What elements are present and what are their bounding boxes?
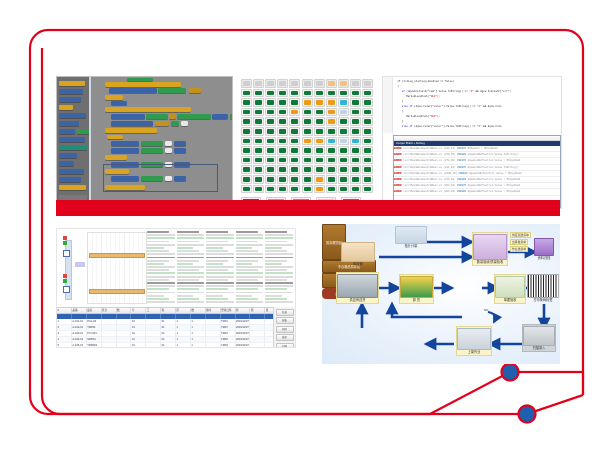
- status-cell-10-3[interactable]: [277, 175, 288, 184]
- status-cell-8-0[interactable]: [241, 156, 252, 165]
- data-grid[interactable]: #品番品名区分数号工程区数備考登録日時状態更新 1A-101-01PLG-04 …: [57, 307, 295, 347]
- status-cell-fill: [328, 158, 335, 163]
- status-cell-10-1[interactable]: [253, 175, 264, 184]
- status-cell-2-2[interactable]: [265, 98, 276, 107]
- status-cell-10-0[interactable]: [241, 175, 252, 184]
- status-cell-fill: [316, 187, 323, 192]
- status-cell-9-8[interactable]: [338, 165, 349, 174]
- status-cell-3-7[interactable]: [326, 108, 337, 117]
- status-cell-4-5[interactable]: [302, 117, 313, 126]
- schedule-text-row: [265, 269, 287, 271]
- palette-block-4[interactable]: [59, 113, 86, 118]
- status-cell-3-3[interactable]: [277, 108, 288, 117]
- status-cell-6-2[interactable]: [265, 137, 276, 146]
- status-cell-7-9[interactable]: [350, 146, 361, 155]
- status-cell-6-3[interactable]: [277, 137, 288, 146]
- script-block-10[interactable]: [105, 155, 127, 160]
- status-cell-0-3[interactable]: [277, 79, 288, 88]
- status-cell-8-6[interactable]: [314, 156, 325, 165]
- status-cell-2-4[interactable]: [289, 98, 300, 107]
- blocks-palette[interactable]: [57, 77, 91, 208]
- status-cell-0-7[interactable]: [326, 79, 337, 88]
- status-cell-8-3[interactable]: [277, 156, 288, 165]
- palette-block-9[interactable]: [59, 145, 87, 150]
- script-block-5b[interactable]: [155, 121, 169, 126]
- code-editor-screenshot[interactable]: if (txtLog_startLog.Enabled == false){if…: [382, 76, 562, 209]
- status-cell-9-9[interactable]: [350, 165, 361, 174]
- status-cell-7-4[interactable]: [289, 146, 300, 155]
- status-cell-8-8[interactable]: [338, 156, 349, 165]
- status-cell-7-1[interactable]: [253, 146, 264, 155]
- rail-chip-green2[interactable]: [63, 279, 67, 283]
- status-cell-4-9[interactable]: [350, 117, 361, 126]
- status-cell-1-8[interactable]: [338, 89, 349, 98]
- status-cell-7-8[interactable]: [338, 146, 349, 155]
- status-cell-2-6[interactable]: [314, 98, 325, 107]
- status-grid-screenshot[interactable]: [237, 76, 375, 207]
- log-field: RCSpp0c4 > MCCppDcmA: [468, 147, 498, 150]
- grid-header-10[interactable]: 備考: [206, 308, 221, 313]
- grid-header-12[interactable]: 状: [236, 308, 251, 313]
- side-button-3[interactable]: 検索: [276, 334, 294, 341]
- script-block-4c[interactable]: [169, 114, 176, 119]
- schedule-text-row: [265, 298, 287, 300]
- schedule-text-row: [236, 279, 258, 281]
- palette-block-2[interactable]: [59, 97, 81, 102]
- grid-header-6[interactable]: 工: [146, 308, 161, 313]
- status-cell-1-7[interactable]: [326, 89, 337, 98]
- side-button-2[interactable]: 削除: [276, 326, 294, 333]
- status-cell-8-4[interactable]: [289, 156, 300, 165]
- status-cell-2-1[interactable]: [253, 98, 264, 107]
- log-rows[interactable]: ERROR \src\MainWindow\FrmMain.cs (213,19…: [394, 146, 560, 196]
- status-cell-9-4[interactable]: [289, 165, 300, 174]
- flow-tag-workorder: 作业送货单: [510, 246, 528, 252]
- status-cell-fill: [316, 139, 323, 144]
- status-cell-fill: [291, 139, 298, 144]
- status-cell-1-9[interactable]: [350, 89, 361, 98]
- status-cell-11-0[interactable]: [241, 185, 252, 194]
- status-cell-1-5[interactable]: [302, 89, 313, 98]
- status-cell-7-7[interactable]: [326, 146, 337, 155]
- status-cell-3-4[interactable]: [289, 108, 300, 117]
- status-cell-11-3[interactable]: [277, 185, 288, 194]
- status-cell-fill: [328, 167, 335, 172]
- script-block-9b[interactable]: [141, 148, 163, 153]
- script-block-1c[interactable]: [189, 88, 201, 93]
- schedule-text-row: [236, 260, 258, 262]
- script-block-1[interactable]: [109, 88, 157, 93]
- blocks-canvas[interactable]: [91, 77, 232, 208]
- process-rail[interactable]: [59, 232, 85, 302]
- script-block-2[interactable]: [105, 95, 123, 100]
- block-selection-outline: [103, 164, 218, 192]
- status-cell-4-8[interactable]: [338, 117, 349, 126]
- scale-icon: [395, 226, 427, 244]
- grid-header-3[interactable]: 区分: [102, 308, 117, 313]
- status-cell-9-0[interactable]: [241, 165, 252, 174]
- gantt-bar-1[interactable]: [89, 289, 145, 294]
- status-cell-10-10[interactable]: [362, 175, 373, 184]
- script-block-9c[interactable]: [165, 148, 172, 153]
- side-button-4[interactable]: 印刷: [276, 343, 294, 349]
- code-token: (dgvw.Color["color"].Value.ToString() ==: [413, 105, 477, 108]
- log-field: (221,19): [444, 166, 458, 169]
- data-grid-header[interactable]: #品番品名区分数号工程区数備考登録日時状態更新: [57, 307, 295, 314]
- schedule-text-row: [206, 250, 228, 252]
- schedule-text-row: [265, 279, 287, 281]
- script-block-9[interactable]: [111, 148, 139, 153]
- status-cell-5-0[interactable]: [241, 127, 252, 136]
- table-row[interactable]: 5A-105-01TRM001 01A 010111TM032019/11/07…: [57, 343, 295, 348]
- code-line-9[interactable]: else if (dgvw.Color["color"].Value.ToStr…: [402, 125, 502, 128]
- status-cell-2-3[interactable]: [277, 98, 288, 107]
- block-tooltip[interactable]: [127, 78, 153, 81]
- status-cell-fill: [267, 81, 274, 86]
- status-cell-11-10[interactable]: [362, 185, 373, 194]
- status-cell-3-2[interactable]: [265, 108, 276, 117]
- status-cell-0-5[interactable]: [302, 79, 313, 88]
- status-cell-0-6[interactable]: [314, 79, 325, 88]
- script-block-9d[interactable]: [174, 148, 186, 153]
- schedule-text-row: [147, 237, 175, 239]
- status-cell-9-3[interactable]: [277, 165, 288, 174]
- status-cell-10-2[interactable]: [265, 175, 276, 184]
- code-line-8[interactable]: }: [402, 120, 404, 123]
- status-cell-4-6[interactable]: [314, 117, 325, 126]
- schedule-text-row: [206, 257, 234, 259]
- script-block-2b[interactable]: [111, 101, 127, 105]
- schedule-text-row: [177, 257, 205, 259]
- script-block-4f[interactable]: [230, 114, 233, 119]
- status-cell-0-9[interactable]: [350, 79, 361, 88]
- status-cell-fill: [255, 81, 262, 86]
- grid-header-1[interactable]: 品番: [72, 308, 87, 313]
- status-cell-4-0[interactable]: [241, 117, 252, 126]
- status-cell-4-3[interactable]: [277, 117, 288, 126]
- status-cell-4-1[interactable]: [253, 117, 264, 126]
- flow-node-supplier: 供应商: [342, 242, 374, 266]
- status-cell-11-9[interactable]: [350, 185, 361, 194]
- status-cell-3-9[interactable]: [350, 108, 361, 117]
- palette-block-5[interactable]: [59, 121, 79, 126]
- schedule-text-row: [206, 231, 228, 233]
- status-cell-fill: [364, 91, 371, 96]
- script-block-5c[interactable]: [171, 121, 179, 126]
- status-cell-2-9[interactable]: [350, 98, 361, 107]
- status-cell-3-5[interactable]: [302, 108, 313, 117]
- status-cell-1-3[interactable]: [277, 89, 288, 98]
- grid-cell: [146, 343, 161, 348]
- gantt-bar-0[interactable]: [89, 253, 145, 258]
- script-block-8d[interactable]: [174, 141, 186, 146]
- hand-scanner-icon: [523, 326, 555, 346]
- status-cell-fill: [304, 119, 311, 124]
- grid-header-5[interactable]: 号: [131, 308, 146, 313]
- flow-node-truck: 供应商送货: [336, 272, 379, 304]
- status-cell-1-0[interactable]: [241, 89, 252, 98]
- status-cell-2-5[interactable]: [302, 98, 313, 107]
- status-cell-9-7[interactable]: [326, 165, 337, 174]
- status-cell-fill: [328, 148, 335, 153]
- rail-flag[interactable]: [75, 262, 85, 267]
- status-cell-fill: [291, 177, 298, 182]
- palette-block-7[interactable]: [59, 129, 75, 134]
- code-line-5[interactable]: else if (dgvw.Color["color"].Value.ToStr…: [402, 105, 502, 108]
- schedule-text-row: [265, 237, 293, 239]
- status-cell-5-1[interactable]: [253, 127, 264, 136]
- palette-block-11[interactable]: [59, 161, 74, 166]
- status-cell-10-7[interactable]: [326, 175, 337, 184]
- status-cell-fill: [304, 177, 311, 182]
- script-block-6[interactable]: [105, 128, 157, 133]
- script-block-8[interactable]: [111, 141, 139, 146]
- schedule-text-row: [236, 288, 258, 290]
- status-cell-5-5[interactable]: [302, 127, 313, 136]
- schedule-text-row: [147, 244, 175, 246]
- rail-node-lower[interactable]: [63, 286, 70, 293]
- palette-block-6[interactable]: [77, 129, 89, 134]
- status-cell-fill: [255, 167, 262, 172]
- status-cell-9-5[interactable]: [302, 165, 313, 174]
- status-cell-5-2[interactable]: [265, 127, 276, 136]
- schedule-text-row: [236, 292, 264, 294]
- palette-block-3[interactable]: [59, 105, 73, 110]
- document-icon: [495, 276, 525, 298]
- status-cell-0-10[interactable]: [362, 79, 373, 88]
- schedule-text-row: [177, 282, 205, 284]
- script-block-3[interactable]: [105, 107, 191, 112]
- grid-header-11[interactable]: 登録日時: [221, 308, 236, 313]
- status-cell-fill: [328, 129, 335, 134]
- schedule-top-area[interactable]: [57, 229, 295, 305]
- status-cell-1-6[interactable]: [314, 89, 325, 98]
- status-cell-8-10[interactable]: [362, 156, 373, 165]
- status-cell-8-5[interactable]: [302, 156, 313, 165]
- schedule-text-row: [177, 234, 205, 236]
- status-cell-6-9[interactable]: [350, 137, 361, 146]
- script-block-1b[interactable]: [158, 88, 186, 93]
- status-cell-10-4[interactable]: [289, 175, 300, 184]
- schedule-text-row: [177, 247, 194, 249]
- status-cell-1-2[interactable]: [265, 89, 276, 98]
- status-cell-3-8[interactable]: [338, 108, 349, 117]
- status-cell-7-10[interactable]: [362, 146, 373, 155]
- build-output-panel[interactable]: Output Build + Debug ERROR \src\MainWind…: [393, 135, 561, 208]
- status-cell-6-1[interactable]: [253, 137, 264, 146]
- palette-block-1[interactable]: [59, 89, 83, 94]
- palette-block-14[interactable]: [59, 185, 86, 190]
- grid-cell: 1: [176, 331, 191, 336]
- status-cell-8-1[interactable]: [253, 156, 264, 165]
- status-cell-0-1[interactable]: [253, 79, 264, 88]
- grid-cell: 01: [161, 337, 176, 342]
- grid-header-9[interactable]: 数: [191, 308, 206, 313]
- grid-cell: 2019/11/07 09:15: [236, 325, 251, 330]
- status-cell-5-4[interactable]: [289, 127, 300, 136]
- status-cell-fill: [267, 139, 274, 144]
- status-cell-11-1[interactable]: [253, 185, 264, 194]
- status-cell-2-0[interactable]: [241, 98, 252, 107]
- status-cell-5-9[interactable]: [350, 127, 361, 136]
- side-button-1[interactable]: 編集: [276, 317, 294, 324]
- status-cell-fill: [364, 110, 371, 115]
- schedule-text-row: [265, 247, 282, 249]
- grid-cell: TMP01: [87, 325, 102, 330]
- status-cell-7-2[interactable]: [265, 146, 276, 155]
- script-block-4b[interactable]: [146, 114, 168, 119]
- palette-block-12[interactable]: [59, 169, 84, 174]
- status-cell-6-4[interactable]: [289, 137, 300, 146]
- schedule-sheet-screenshot[interactable]: #品番品名区分数号工程区数備考登録日時状態更新 1A-101-01PLG-04 …: [56, 228, 296, 348]
- status-cell-5-6[interactable]: [314, 127, 325, 136]
- grid-header-13[interactable]: 態: [250, 308, 265, 313]
- script-block-8c[interactable]: [165, 141, 172, 146]
- status-cell-2-7[interactable]: [326, 98, 337, 107]
- status-cell-fill: [243, 110, 250, 115]
- schedule-text-row: [236, 250, 258, 252]
- rail-node-upper[interactable]: [63, 250, 70, 257]
- log-field: \src\MainWindow\FrmMain.cs: [403, 166, 444, 169]
- status-cell-1-10[interactable]: [362, 89, 373, 98]
- palette-block-10[interactable]: [59, 153, 77, 158]
- grid-header-2[interactable]: 品名: [87, 308, 102, 313]
- status-cell-4-7[interactable]: [326, 117, 337, 126]
- data-grid-side-buttons[interactable]: 新規編集削除検索印刷閉じる: [273, 307, 295, 347]
- status-cell-11-2[interactable]: [265, 185, 276, 194]
- script-block-4d[interactable]: [177, 114, 211, 119]
- code-line-1[interactable]: {: [397, 85, 399, 88]
- status-cell-5-3[interactable]: [277, 127, 288, 136]
- status-cell-11-6[interactable]: [314, 185, 325, 194]
- status-cell-11-5[interactable]: [302, 185, 313, 194]
- status-cell-2-10[interactable]: [362, 98, 373, 107]
- script-block-5d[interactable]: [181, 121, 188, 126]
- rail-chip-red[interactable]: [63, 236, 67, 240]
- status-cell-8-7[interactable]: [326, 156, 337, 165]
- schedule-text-row: [147, 250, 169, 252]
- script-block-0[interactable]: [105, 82, 181, 87]
- grid-header-0[interactable]: #: [57, 308, 72, 313]
- status-cell-6-5[interactable]: [302, 137, 313, 146]
- script-block-8b[interactable]: [141, 141, 163, 146]
- status-cell-1-1[interactable]: [253, 89, 264, 98]
- status-cell-7-5[interactable]: [302, 146, 313, 155]
- status-cell-3-1[interactable]: [253, 108, 264, 117]
- code-line-6[interactable]: {: [402, 110, 404, 113]
- inspect-icon: [473, 234, 507, 260]
- status-cell-9-6[interactable]: [314, 165, 325, 174]
- status-cell-6-0[interactable]: [241, 137, 252, 146]
- status-cell-0-2[interactable]: [265, 79, 276, 88]
- status-cell-6-6[interactable]: [314, 137, 325, 146]
- status-cell-fill: [291, 81, 298, 86]
- rail-chip-green[interactable]: [63, 241, 67, 245]
- schedule-text-row: [265, 250, 287, 252]
- status-cell-7-0[interactable]: [241, 146, 252, 155]
- status-cell-2-8[interactable]: [338, 98, 349, 107]
- status-cell-fill: [243, 100, 250, 105]
- grid-cell: TRM001 01A: [87, 343, 102, 348]
- grid-header-8[interactable]: 区: [176, 308, 191, 313]
- log-field: ERROR: [394, 166, 403, 169]
- status-cell-10-8[interactable]: [338, 175, 349, 184]
- status-cell-5-7[interactable]: [326, 127, 337, 136]
- code-line-4[interactable]: }: [402, 100, 404, 103]
- data-grid-body[interactable]: 1A-101-01PLG-04 010111TM012019/11/07 09:…: [57, 314, 295, 348]
- status-cell-10-6[interactable]: [314, 175, 325, 184]
- status-cell-6-10[interactable]: [362, 137, 373, 146]
- schedule-text-row: [236, 253, 264, 255]
- gantt-chart[interactable]: [87, 232, 147, 304]
- status-cell-4-2[interactable]: [265, 117, 276, 126]
- status-cell-9-1[interactable]: [253, 165, 264, 174]
- status-cell-5-10[interactable]: [362, 127, 373, 136]
- log-field: ERROR: [394, 178, 403, 181]
- status-cell-3-10[interactable]: [362, 108, 373, 117]
- code-line-0[interactable]: if (txtLog_startLog.Enabled == false): [397, 80, 454, 83]
- status-cell-4-10[interactable]: [362, 117, 373, 126]
- log-field: CS0176: [457, 159, 468, 162]
- code-token: "VE2": [429, 115, 437, 118]
- grid-header-4[interactable]: 数: [117, 308, 132, 313]
- status-cell-0-0[interactable]: [241, 79, 252, 88]
- palette-block-13[interactable]: [59, 177, 81, 182]
- status-cell-5-8[interactable]: [338, 127, 349, 136]
- log-field: \src\MainWindow\FrmMain.cs: [403, 159, 444, 162]
- status-cell-9-10[interactable]: [362, 165, 373, 174]
- code-token: (dgvw.Color["color"].Value.ToString() ==: [413, 125, 477, 128]
- grid-header-7[interactable]: 程: [161, 308, 176, 313]
- status-cell-8-9[interactable]: [350, 156, 361, 165]
- status-cell-1-4[interactable]: [289, 89, 300, 98]
- status-cell-0-4[interactable]: [289, 79, 300, 88]
- status-cell-6-8[interactable]: [338, 137, 349, 146]
- status-cell-3-6[interactable]: [314, 108, 325, 117]
- script-block-4[interactable]: [111, 114, 145, 119]
- status-cell-fill: [316, 100, 323, 105]
- status-cell-11-8[interactable]: [338, 185, 349, 194]
- script-block-5[interactable]: [111, 121, 153, 126]
- schedule-text-row: [147, 241, 169, 243]
- code-line-7[interactable]: MarkedLoopPush("VE2");: [406, 115, 440, 118]
- status-cell-8-2[interactable]: [265, 156, 276, 165]
- status-cell-10-9[interactable]: [350, 175, 361, 184]
- status-cell-7-6[interactable]: [314, 146, 325, 155]
- palette-block-8[interactable]: [59, 137, 85, 142]
- palette-block-0[interactable]: [59, 81, 85, 86]
- code-line-2[interactable]: if (dgvwInitialF["cmm"].Value.ToString()…: [402, 90, 511, 93]
- schedule-text-columns: [147, 231, 293, 303]
- status-cell-3-0[interactable]: [241, 108, 252, 117]
- blocks-editor-screenshot[interactable]: [56, 76, 233, 209]
- status-cell-0-8[interactable]: [338, 79, 349, 88]
- status-cell-11-7[interactable]: [326, 185, 337, 194]
- status-cell-6-7[interactable]: [326, 137, 337, 146]
- script-block-4e[interactable]: [212, 114, 228, 119]
- status-cell-7-3[interactable]: [277, 146, 288, 155]
- status-cell-4-4[interactable]: [289, 117, 300, 126]
- log-row-7[interactable]: ERROR \src\MainWindow\FrmMain.cs (284,19…: [394, 189, 560, 195]
- code-line-3[interactable]: MarkedLoopPush("VE1");: [406, 95, 440, 98]
- status-cell-10-5[interactable]: [302, 175, 313, 184]
- script-block-7[interactable]: [107, 135, 123, 139]
- status-cell-9-2[interactable]: [265, 165, 276, 174]
- rail-chip-red2[interactable]: [63, 274, 67, 278]
- side-button-0[interactable]: 新規: [276, 309, 294, 316]
- status-cell-11-4[interactable]: [289, 185, 300, 194]
- grid-cell: 1: [57, 319, 72, 324]
